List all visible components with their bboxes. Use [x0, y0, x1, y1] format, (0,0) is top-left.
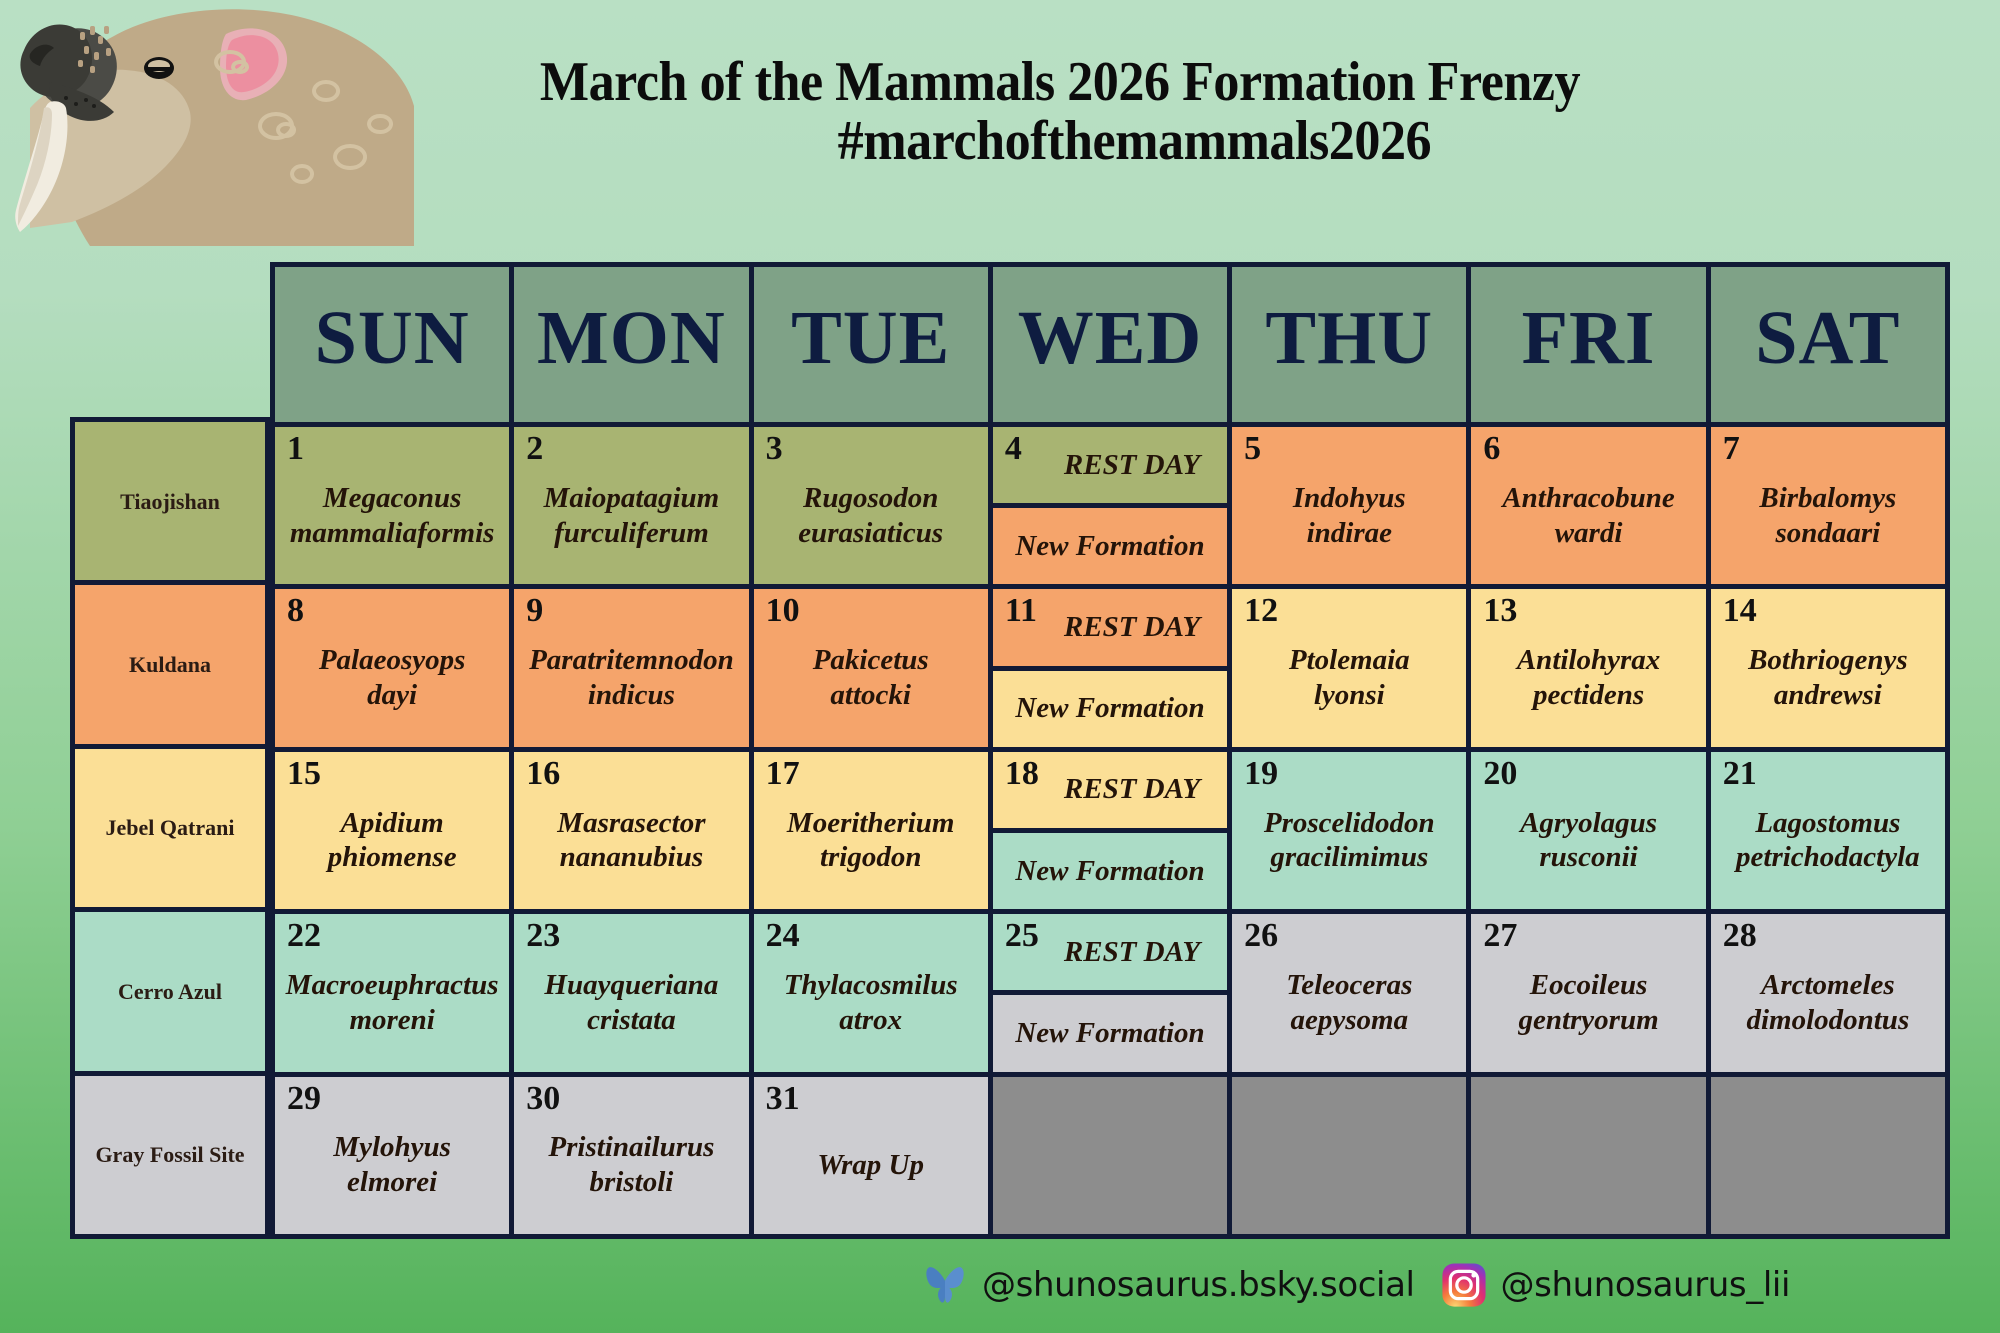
species-epithet: elmorei	[347, 1165, 437, 1200]
species-epithet: aepysoma	[1290, 1003, 1408, 1038]
weekday-header-sat: SAT	[1711, 267, 1945, 422]
species-epithet: mammaliaformis	[290, 516, 495, 551]
species-genus: Bothriogenys	[1748, 643, 1908, 678]
day-cell[interactable]: 15Apidiumphiomense	[275, 752, 509, 909]
species-genus: Pristinailurus	[548, 1130, 714, 1165]
weekday-header-mon: MON	[514, 267, 748, 422]
species-epithet: wardi	[1555, 516, 1623, 551]
day-number: 21	[1723, 756, 1757, 792]
rest-day-half: 4REST DAY	[993, 427, 1227, 503]
new-formation-half: New Formation	[993, 995, 1227, 1071]
weekday-header-fri: FRI	[1471, 267, 1705, 422]
species-genus: Birbalomys	[1759, 481, 1896, 516]
species-genus: Palaeosyops	[319, 643, 466, 678]
species-epithet: eurasiaticus	[798, 516, 943, 551]
day-cell[interactable]: 27Eocoileusgentryorum	[1471, 914, 1705, 1071]
day-number: 5	[1244, 431, 1261, 467]
day-number: 22	[287, 918, 321, 954]
day-cell[interactable]: 24Thylacosmilusatrox	[754, 914, 988, 1071]
species-genus: Mylohyus	[333, 1130, 451, 1165]
species-epithet: bristoli	[590, 1165, 674, 1200]
species-epithet: sondaari	[1775, 516, 1880, 551]
day-number: 9	[526, 593, 543, 629]
day-cell[interactable]: 12Ptolemaialyonsi	[1232, 589, 1466, 746]
species-genus: Megaconus	[323, 481, 462, 516]
species-name: Megaconusmammaliaformis	[275, 427, 509, 584]
species-epithet: trigodon	[820, 840, 922, 875]
new-formation-label: New Formation	[1015, 855, 1204, 888]
day-number: 16	[526, 756, 560, 792]
formation-key-item: Cerro Azul	[75, 912, 265, 1070]
species-genus: Ptolemaia	[1289, 643, 1410, 678]
day-number: 20	[1483, 756, 1517, 792]
day-cell[interactable]: 31Wrap Up	[754, 1077, 988, 1234]
day-number: 30	[526, 1081, 560, 1117]
species-epithet: nananubius	[560, 840, 704, 875]
day-cell[interactable]: 3Rugosodoneurasiaticus	[754, 427, 988, 584]
new-formation-label: New Formation	[1015, 692, 1204, 725]
bluesky-handle: @shunosaurus.bsky.social	[982, 1265, 1415, 1305]
rest-day-cell[interactable]: 18REST DAYNew Formation	[993, 752, 1227, 909]
species-genus: Thylacosmilus	[784, 968, 958, 1003]
rest-day-half: 25REST DAY	[993, 914, 1227, 990]
day-number: 11	[1005, 593, 1037, 629]
day-number: 12	[1244, 593, 1278, 629]
rest-day-half: 11REST DAY	[993, 589, 1227, 665]
species-epithet: moreni	[349, 1003, 434, 1038]
day-number: 18	[1005, 756, 1039, 792]
species-genus: Arctomeles	[1761, 968, 1895, 1003]
formation-key-item: Gray Fossil Site	[75, 1076, 265, 1234]
species-name: Rugosodoneurasiaticus	[754, 427, 988, 584]
day-number: 1	[287, 431, 304, 467]
species-epithet: phiomense	[328, 840, 457, 875]
day-cell[interactable]: 2Maiopatagiumfurculiferum	[514, 427, 748, 584]
day-cell[interactable]: 20Agryolagusrusconii	[1471, 752, 1705, 909]
species-genus: Agryolagus	[1520, 806, 1657, 841]
day-number: 3	[766, 431, 783, 467]
day-cell[interactable]: 22Macroeuphractusmoreni	[275, 914, 509, 1071]
species-epithet: attocki	[830, 678, 911, 713]
species-genus: Masrasector	[557, 806, 705, 841]
day-cell[interactable]: 1Megaconusmammaliaformis	[275, 427, 509, 584]
species-epithet: petrichodactyla	[1736, 840, 1920, 875]
day-number: 27	[1483, 918, 1517, 954]
day-number: 24	[766, 918, 800, 954]
species-genus: Proscelidodon	[1264, 806, 1435, 841]
rest-day-label: REST DAY	[1020, 936, 1200, 969]
day-cell[interactable]: 9Paratritemnodonindicus	[514, 589, 748, 746]
species-genus: Apidium	[341, 806, 444, 841]
species-genus: Rugosodon	[803, 481, 938, 516]
species-name: Birbalomyssondaari	[1711, 427, 1945, 584]
calendar-grid: SUNMONTUEWEDTHUFRISAT1Megaconusmammaliaf…	[270, 262, 1950, 1239]
species-name: Paratritemnodonindicus	[514, 589, 748, 746]
rest-day-cell[interactable]: 25REST DAYNew Formation	[993, 914, 1227, 1071]
day-number: 8	[287, 593, 304, 629]
rest-day-label: REST DAY	[1020, 773, 1200, 806]
species-name: Anthracobunewardi	[1471, 427, 1705, 584]
species-epithet: gentryorum	[1518, 1003, 1658, 1038]
species-genus: Moeritherium	[787, 806, 955, 841]
day-number: 13	[1483, 593, 1517, 629]
weekday-header-sun: SUN	[275, 267, 509, 422]
page-title: March of the Mammals 2026 Formation Fren…	[0, 54, 2000, 170]
species-genus: Teleoceras	[1286, 968, 1412, 1003]
day-number: 19	[1244, 756, 1278, 792]
formation-key-item: Jebel Qatrani	[75, 749, 265, 907]
social-footer: @shunosaurus.bsky.social @shunosaurus_li…	[0, 1253, 2000, 1317]
day-cell[interactable]: 23Huayquerianacristata	[514, 914, 748, 1071]
day-number: 4	[1005, 431, 1022, 467]
species-epithet: indicus	[588, 678, 675, 713]
rest-day-label: REST DAY	[1020, 611, 1200, 644]
day-number: 26	[1244, 918, 1278, 954]
new-formation-half: New Formation	[993, 671, 1227, 747]
species-genus: Wrap Up	[817, 1148, 924, 1183]
weekday-header-thu: THU	[1232, 267, 1466, 422]
day-cell[interactable]: 16Masrasectornananubius	[514, 752, 748, 909]
day-cell[interactable]: 6Anthracobunewardi	[1471, 427, 1705, 584]
species-epithet: rusconii	[1539, 840, 1637, 875]
species-epithet: cristata	[587, 1003, 676, 1038]
empty-day-cell	[1711, 1077, 1945, 1234]
day-cell[interactable]: 8Palaeosyopsdayi	[275, 589, 509, 746]
species-epithet: atrox	[839, 1003, 902, 1038]
species-genus: Indohyus	[1293, 481, 1406, 516]
species-genus: Maiopatagium	[544, 481, 720, 516]
species-name: Maiopatagiumfurculiferum	[514, 427, 748, 584]
day-cell[interactable]: 10Pakicetusattocki	[754, 589, 988, 746]
new-formation-label: New Formation	[1015, 530, 1204, 563]
bluesky-social[interactable]: @shunosaurus.bsky.social	[922, 1262, 1415, 1308]
day-number: 2	[526, 431, 543, 467]
species-epithet: dayi	[367, 678, 417, 713]
title-hashtag-line: #marchofthemammals2026	[186, 112, 1934, 171]
instagram-icon	[1441, 1262, 1487, 1308]
species-name: Palaeosyopsdayi	[275, 589, 509, 746]
day-cell[interactable]: 5Indohyusindirae	[1232, 427, 1466, 584]
butterfly-icon	[922, 1262, 968, 1308]
day-cell[interactable]: 21Lagostomuspetrichodactyla	[1711, 752, 1945, 909]
species-genus: Eocoileus	[1530, 968, 1648, 1003]
new-formation-label: New Formation	[1015, 1017, 1204, 1050]
species-genus: Pakicetus	[813, 643, 929, 678]
day-cell[interactable]: 29Mylohyuselmorei	[275, 1077, 509, 1234]
species-genus: Antilohyrax	[1517, 643, 1660, 678]
day-cell[interactable]: 26Teleocerasaepysoma	[1232, 914, 1466, 1071]
day-number: 17	[766, 756, 800, 792]
rest-day-label: REST DAY	[1020, 449, 1200, 482]
species-genus: Anthracobune	[1502, 481, 1674, 516]
rest-day-half: 18REST DAY	[993, 752, 1227, 828]
species-epithet: pectidens	[1533, 678, 1644, 713]
species-name: Indohyusindirae	[1232, 427, 1466, 584]
day-number: 31	[766, 1081, 800, 1117]
day-cell[interactable]: 28Arctomelesdimolodontus	[1711, 914, 1945, 1071]
day-number: 29	[287, 1081, 321, 1117]
new-formation-half: New Formation	[993, 833, 1227, 909]
species-genus: Huayqueriana	[544, 968, 718, 1003]
day-number: 15	[287, 756, 321, 792]
day-number: 6	[1483, 431, 1500, 467]
weekday-header-wed: WED	[993, 267, 1227, 422]
species-epithet: furculiferum	[554, 516, 709, 551]
day-cell[interactable]: 19Proscelidodongracilimimus	[1232, 752, 1466, 909]
day-cell[interactable]: 13Antilohyraxpectidens	[1471, 589, 1705, 746]
species-epithet: andrewsi	[1774, 678, 1882, 713]
species-genus: Macroeuphractus	[286, 968, 499, 1003]
species-epithet: indirae	[1307, 516, 1392, 551]
weekday-header-tue: TUE	[754, 267, 988, 422]
species-epithet: lyonsi	[1314, 678, 1385, 713]
empty-day-cell	[1471, 1077, 1705, 1234]
formation-key-item: Kuldana	[75, 585, 265, 743]
day-number: 28	[1723, 918, 1757, 954]
day-cell[interactable]: 14Bothriogenysandrewsi	[1711, 589, 1945, 746]
rest-day-cell[interactable]: 11REST DAYNew Formation	[993, 589, 1227, 746]
day-cell[interactable]: 17Moeritheriumtrigodon	[754, 752, 988, 909]
species-genus: Paratritemnodon	[529, 643, 734, 678]
title-main-line: March of the Mammals 2026 Formation Fren…	[186, 54, 1934, 112]
formation-key-item: Tiaojishan	[75, 422, 265, 580]
rest-day-cell[interactable]: 4REST DAYNew Formation	[993, 427, 1227, 584]
species-genus: Lagostomus	[1755, 806, 1900, 841]
empty-day-cell	[1232, 1077, 1466, 1234]
calendar: TiaojishanKuldanaJebel QatraniCerro Azul…	[70, 262, 1950, 1242]
instagram-handle: @shunosaurus_lii	[1501, 1265, 1790, 1305]
day-cell[interactable]: 7Birbalomyssondaari	[1711, 427, 1945, 584]
day-number: 7	[1723, 431, 1740, 467]
day-number: 23	[526, 918, 560, 954]
species-epithet: dimolodontus	[1746, 1003, 1909, 1038]
day-number: 25	[1005, 918, 1039, 954]
formation-color-key: TiaojishanKuldanaJebel QatraniCerro Azul…	[70, 417, 270, 1239]
day-number: 10	[766, 593, 800, 629]
empty-day-cell	[993, 1077, 1227, 1234]
species-epithet: gracilimimus	[1270, 840, 1428, 875]
day-cell[interactable]: 30Pristinailurusbristoli	[514, 1077, 748, 1234]
day-number: 14	[1723, 593, 1757, 629]
instagram-social[interactable]: @shunosaurus_lii	[1441, 1262, 1790, 1308]
new-formation-half: New Formation	[993, 508, 1227, 584]
